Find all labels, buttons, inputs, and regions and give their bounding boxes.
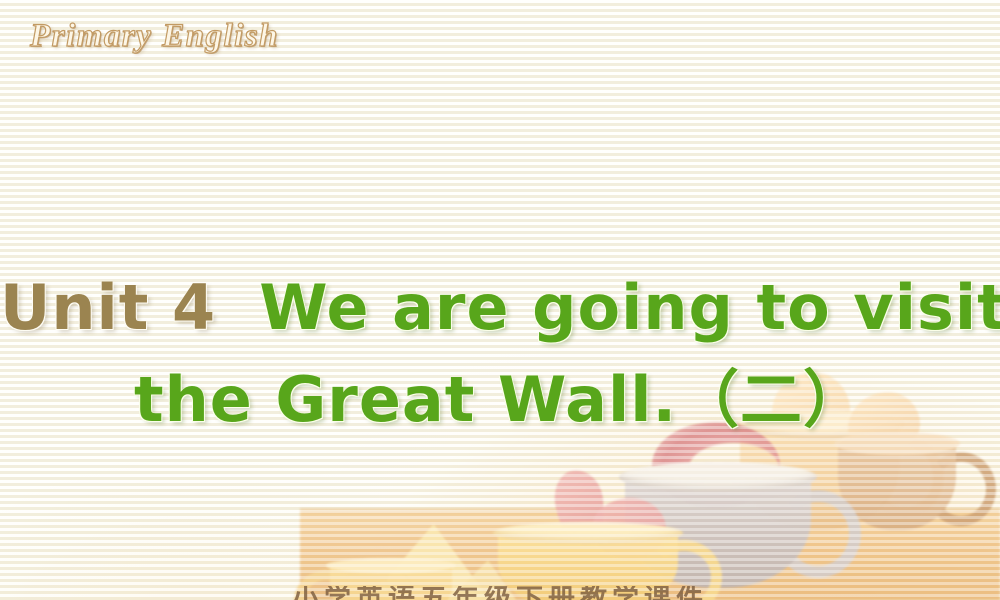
title-line-2: the Great Wall.（二） <box>0 354 1000 446</box>
title-unit-number: Unit 4 <box>0 271 216 344</box>
subject-header-label: Primary English <box>30 18 279 55</box>
footer-caption: 小学英语五年级下册教学课件 <box>0 586 1000 600</box>
title-line-1-text: We are going to visit <box>259 271 1000 344</box>
slide-title: Unit 4 We are going to visit the Great W… <box>0 262 1000 446</box>
slide-canvas: 小学英语五年级下册教学课件 Primary English Unit 4 We … <box>0 0 1000 600</box>
title-line-1: Unit 4 We are going to visit <box>0 262 1000 354</box>
